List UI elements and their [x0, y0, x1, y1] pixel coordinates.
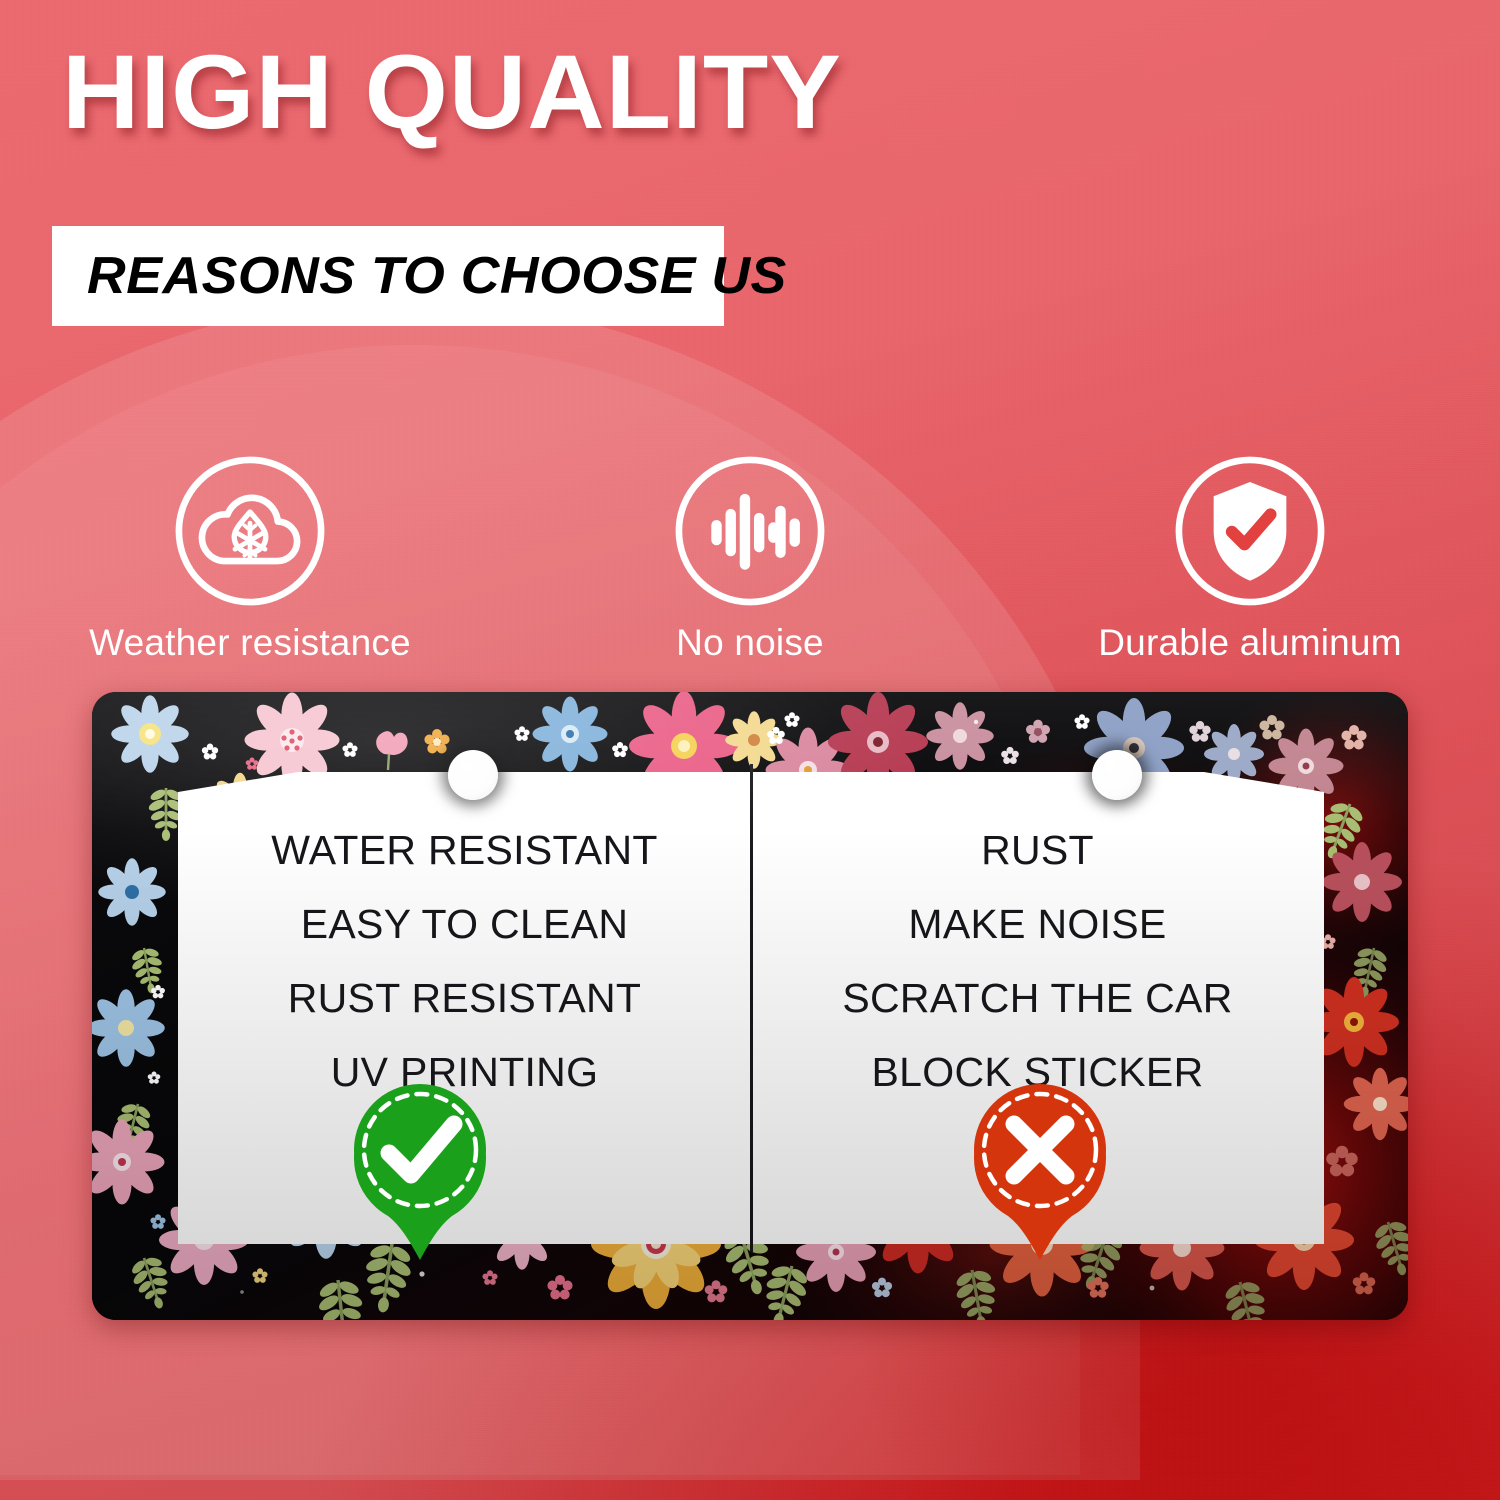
shield-check-icon [1171, 452, 1329, 610]
feature-durable-aluminum: Durable aluminum [1000, 452, 1500, 664]
feature-no-noise: No noise [500, 452, 1000, 664]
mounting-hole-right [1092, 750, 1142, 800]
feature-label: Durable aluminum [1098, 622, 1401, 664]
mounting-hole-left [448, 750, 498, 800]
feature-label: No noise [676, 622, 824, 664]
green-check-pin-icon [344, 1074, 496, 1260]
red-cross-pin-icon [964, 1074, 1116, 1260]
feature-weather-resistance: Weather resistance [0, 452, 500, 664]
subtitle-text: REASONS TO CHOOSE US [52, 246, 787, 306]
license-plate-frame-product [92, 692, 1408, 1320]
page-title: HIGH QUALITY [62, 40, 842, 145]
feature-row: Weather resistance No noise Durable alum… [0, 452, 1500, 664]
feature-label: Weather resistance [89, 622, 411, 664]
panel-divider [750, 764, 753, 1252]
cloud-droplet-snowflake-icon [171, 452, 329, 610]
sound-wave-icon [671, 452, 829, 610]
subtitle-banner: REASONS TO CHOOSE US [52, 226, 724, 326]
